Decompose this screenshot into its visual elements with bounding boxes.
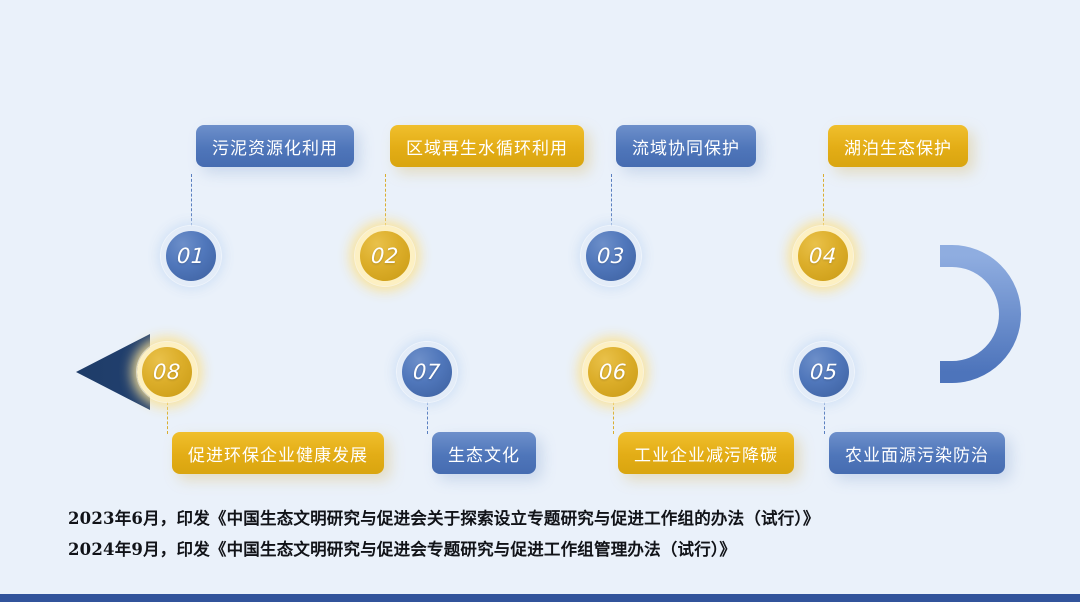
node-number-08: 08 [152,360,181,384]
pill-text-07: 生态文化 [448,441,520,466]
timeline-node-03[interactable]: 03 [581,226,641,286]
pill-label-06[interactable]: 工业企业减污降碳 [618,432,794,474]
timeline-node-01[interactable]: 01 [161,226,221,286]
pill-label-08[interactable]: 促进环保企业健康发展 [172,432,384,474]
timeline-node-08[interactable]: 08 [137,342,197,402]
pill-text-08: 促进环保企业健康发展 [188,441,368,466]
leader-line-04 [823,174,824,226]
leader-line-01 [191,174,192,226]
notes-block: 2023年6月，印发《中国生态文明研究与促进会关于探索设立专题研究与促进工作组的… [68,503,1028,565]
node-number-07: 07 [412,360,441,384]
pill-text-03: 流域协同保护 [632,134,740,159]
leader-line-06 [613,402,614,434]
pill-text-06: 工业企业减污降碳 [634,441,778,466]
node-number-03: 03 [596,244,625,268]
pill-label-05[interactable]: 农业面源污染防治 [829,432,1005,474]
leader-line-07 [427,402,428,434]
footer-bar [0,594,1080,602]
pill-text-05: 农业面源污染防治 [845,441,989,466]
node-number-05: 05 [809,360,838,384]
leader-line-03 [611,174,612,226]
timeline-node-06[interactable]: 06 [583,342,643,402]
leader-line-02 [385,174,386,226]
node-number-04: 04 [808,244,837,268]
slide-canvas: 污泥资源化利用 区域再生水循环利用 流域协同保护 湖泊生态保护 促进环保企业健康… [0,0,1080,602]
node-number-01: 01 [176,244,205,268]
pill-text-04: 湖泊生态保护 [844,134,952,159]
track-segment-curve [940,256,1010,372]
node-number-02: 02 [370,244,399,268]
leader-line-08 [167,402,168,434]
node-number-06: 06 [598,360,627,384]
pill-label-03[interactable]: 流域协同保护 [616,125,756,167]
pill-text-01: 污泥资源化利用 [212,134,338,159]
pill-label-07[interactable]: 生态文化 [432,432,536,474]
leader-line-05 [824,402,825,434]
pill-label-02[interactable]: 区域再生水循环利用 [390,125,584,167]
note-line-2: 2024年9月，印发《中国生态文明研究与促进会专题研究与促进工作组管理办法（试行… [68,534,1028,565]
timeline-node-05[interactable]: 05 [794,342,854,402]
timeline-node-07[interactable]: 07 [397,342,457,402]
pill-label-01[interactable]: 污泥资源化利用 [196,125,354,167]
pill-label-04[interactable]: 湖泊生态保护 [828,125,968,167]
timeline-node-04[interactable]: 04 [793,226,853,286]
pill-text-02: 区域再生水循环利用 [406,134,568,159]
note-line-1: 2023年6月，印发《中国生态文明研究与促进会关于探索设立专题研究与促进工作组的… [68,503,1028,534]
timeline-node-02[interactable]: 02 [355,226,415,286]
